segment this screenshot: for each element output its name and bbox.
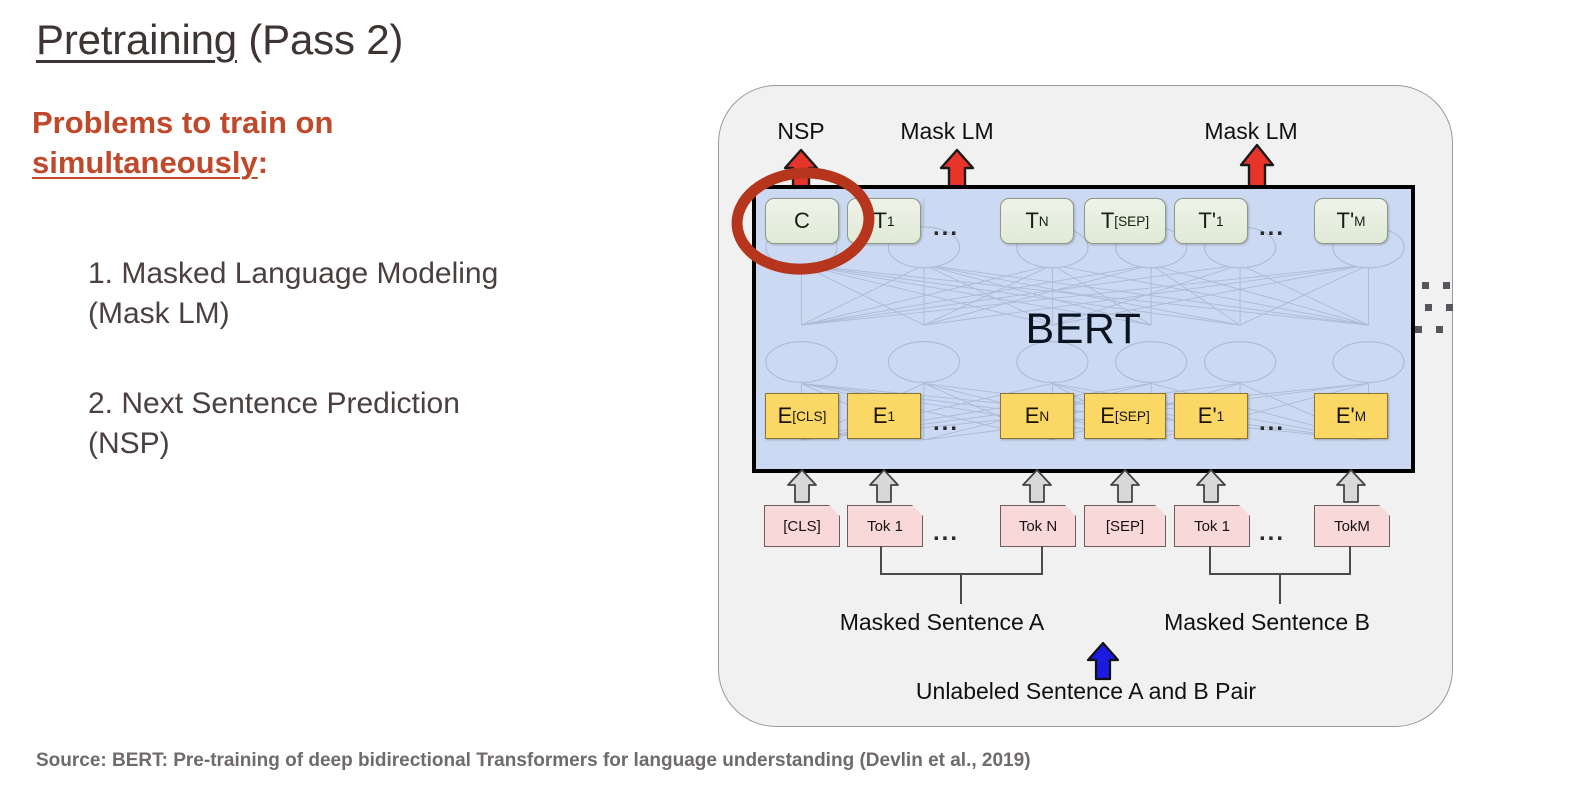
embedding-e1-prime[interactable]: E'1 xyxy=(1174,393,1248,439)
output-token-c[interactable]: C xyxy=(765,198,839,244)
subheading: Problems to train on simultaneously: xyxy=(32,103,502,182)
embedding-e-sep[interactable]: E[SEP] xyxy=(1084,393,1166,439)
gray-arrow-tok1b xyxy=(1194,468,1228,504)
embedding-label: E xyxy=(873,403,888,429)
ellipsis-embeddings-left: ... xyxy=(933,409,959,437)
embedding-label: E xyxy=(1025,403,1040,429)
output-token-tm-prime[interactable]: T'M xyxy=(1314,198,1388,244)
bracket-sentence-b xyxy=(1208,546,1352,606)
slide-canvas: Pretraining (Pass 2) Problems to train o… xyxy=(0,0,1569,791)
ellipsis-embeddings-right: ... xyxy=(1259,409,1285,437)
output-token-sub: [SEP] xyxy=(1114,214,1149,229)
embedding-sub: [CLS] xyxy=(792,409,826,424)
embedding-label: E' xyxy=(1336,403,1355,429)
input-token-tokn[interactable]: Tok N xyxy=(1000,505,1076,547)
embedding-label: E' xyxy=(1198,403,1217,429)
output-token-t1[interactable]: T1 xyxy=(847,198,921,244)
label-mask-lm-right: Mask LM xyxy=(1151,118,1351,145)
page-title: Pretraining (Pass 2) xyxy=(36,16,403,64)
continuation-dots xyxy=(1422,282,1450,334)
embedding-label: E xyxy=(1100,403,1115,429)
list-item: 1. Masked Language Modeling (Mask LM) xyxy=(88,254,518,334)
label-unlabeled-pair: Unlabeled Sentence A and B Pair xyxy=(871,678,1301,705)
gray-arrow-tokm xyxy=(1334,468,1368,504)
embedding-label: E xyxy=(778,403,793,429)
output-token-sub: 1 xyxy=(887,214,895,229)
input-token-tok1[interactable]: Tok 1 xyxy=(847,505,923,547)
input-token-sep[interactable]: [SEP] xyxy=(1084,505,1166,547)
output-token-tn[interactable]: TN xyxy=(1000,198,1074,244)
input-token-tokm[interactable]: TokM xyxy=(1314,505,1390,547)
embedding-sub: 1 xyxy=(888,409,896,424)
red-arrow-mask-lm-right xyxy=(1238,143,1276,190)
embedding-sub: [SEP] xyxy=(1115,409,1150,424)
label-masked-sentence-a: Masked Sentence A xyxy=(826,609,1058,636)
page-title-rest: (Pass 2) xyxy=(237,16,403,63)
input-token-cls[interactable]: [CLS] xyxy=(764,505,840,547)
list-item: 2. Next Sentence Prediction (NSP) xyxy=(88,384,518,464)
output-token-label: T' xyxy=(1198,208,1216,234)
embedding-sub: 1 xyxy=(1217,409,1225,424)
embedding-e1[interactable]: E1 xyxy=(847,393,921,439)
output-token-t1-prime[interactable]: T'1 xyxy=(1174,198,1248,244)
bracket-sentence-a xyxy=(879,546,1044,606)
subheading-colon: : xyxy=(258,145,268,180)
output-token-sub: M xyxy=(1354,214,1365,229)
ellipsis-outputs-right: ... xyxy=(1259,214,1285,242)
embedding-en[interactable]: EN xyxy=(1000,393,1074,439)
gray-arrow-cls xyxy=(785,468,819,504)
subheading-underlined: simultaneously xyxy=(32,145,258,180)
output-token-label: T xyxy=(873,208,886,234)
embedding-em-prime[interactable]: E'M xyxy=(1314,393,1388,439)
label-nsp: NSP xyxy=(741,118,861,145)
embedding-sub: N xyxy=(1039,409,1049,424)
output-token-label: C xyxy=(794,208,810,234)
output-token-sub: 1 xyxy=(1216,214,1224,229)
bert-pretraining-diagram: NSP Mask LM Mask LM xyxy=(718,85,1453,727)
subheading-line1: Problems to train on xyxy=(32,105,333,140)
red-arrow-nsp xyxy=(782,148,820,190)
label-masked-sentence-b: Masked Sentence B xyxy=(1151,609,1383,636)
output-token-label: T xyxy=(1025,208,1038,234)
page-title-underlined: Pretraining xyxy=(36,16,237,63)
gray-arrow-tok1 xyxy=(867,468,901,504)
label-mask-lm-left: Mask LM xyxy=(847,118,1047,145)
output-token-sub: N xyxy=(1039,214,1049,229)
input-token-tok1b[interactable]: Tok 1 xyxy=(1174,505,1250,547)
output-token-label: T xyxy=(1101,208,1114,234)
embedding-sub: M xyxy=(1355,409,1366,424)
ellipsis-outputs-left: ... xyxy=(933,214,959,242)
gray-arrow-sep xyxy=(1108,468,1142,504)
output-token-label: T' xyxy=(1337,208,1355,234)
ellipsis-inputs-right: ... xyxy=(1259,519,1285,547)
ellipsis-inputs-left: ... xyxy=(933,519,959,547)
gray-arrow-tokn xyxy=(1020,468,1054,504)
red-arrow-mask-lm-left xyxy=(938,148,976,190)
source-citation: Source: BERT: Pre-training of deep bidir… xyxy=(36,750,1031,772)
embedding-e-cls[interactable]: E[CLS] xyxy=(765,393,839,439)
blue-arrow-unlabeled-pair xyxy=(1085,641,1121,681)
output-token-tsep[interactable]: T[SEP] xyxy=(1084,198,1166,244)
